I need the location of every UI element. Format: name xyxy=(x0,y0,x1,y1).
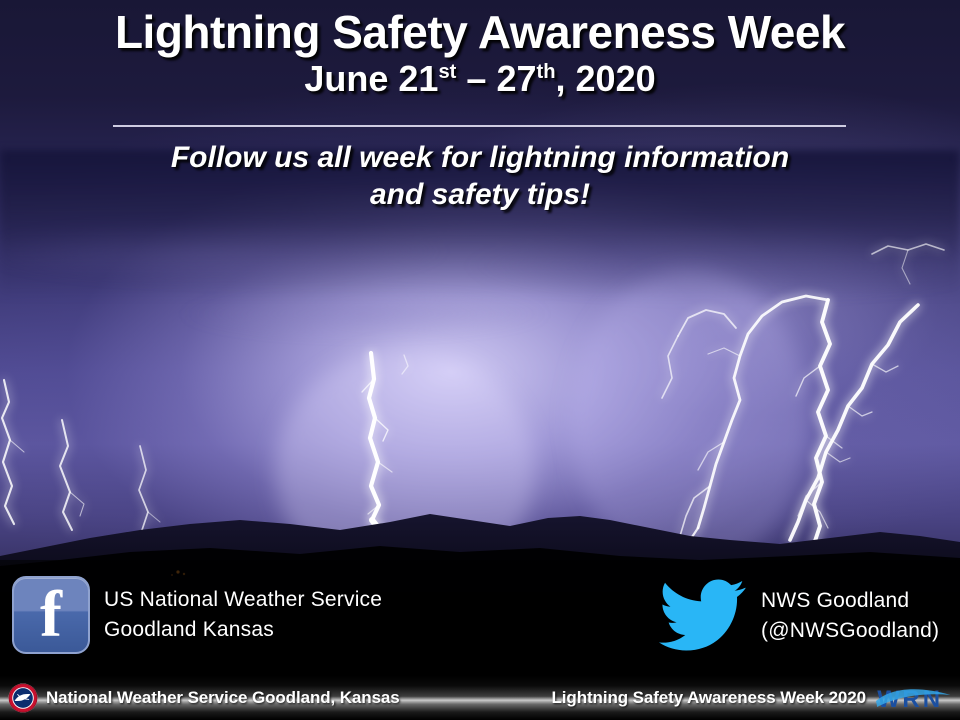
lightning-safety-poster: Lightning Safety Awareness Week June 21s… xyxy=(0,0,960,720)
facebook-icon[interactable]: f xyxy=(12,576,90,654)
twitter-handle-text: NWS Goodland (@NWSGoodland) xyxy=(761,586,939,646)
noaa-nws-seal-icon xyxy=(8,683,38,713)
facebook-f-glyph: f xyxy=(14,582,88,648)
twitter-handle-block[interactable]: NWS Goodland (@NWSGoodland) xyxy=(655,578,939,654)
facebook-handle-text: US National Weather Service Goodland Kan… xyxy=(104,585,382,645)
date-month: June xyxy=(304,58,388,99)
footer-left-group: National Weather Service Goodland, Kansa… xyxy=(8,676,400,720)
social-media-row: f US National Weather Service Goodland K… xyxy=(0,576,960,672)
facebook-line-1: US National Weather Service xyxy=(104,585,382,615)
page-title: Lightning Safety Awareness Week xyxy=(0,0,960,56)
header-divider xyxy=(113,125,846,127)
date-year: , 2020 xyxy=(556,58,656,99)
poster-header: Lightning Safety Awareness Week June 21s… xyxy=(0,0,960,98)
footer-left-text: National Weather Service Goodland, Kansa… xyxy=(46,688,400,708)
poster-footer: National Weather Service Goodland, Kansa… xyxy=(0,676,960,720)
date-start-suffix: st xyxy=(438,61,456,83)
poster-subtitle: Follow us all week for lightning informa… xyxy=(0,140,960,213)
date-range: June 21st – 27th, 2020 xyxy=(0,60,960,98)
facebook-handle-block[interactable]: f US National Weather Service Goodland K… xyxy=(12,576,382,654)
date-end-day: 27 xyxy=(496,58,536,99)
subtitle-line-2: and safety tips! xyxy=(0,177,960,214)
twitter-bird-icon[interactable] xyxy=(655,578,747,654)
date-dash: – xyxy=(466,58,486,99)
weather-ready-nation-logo: W R N xyxy=(876,683,954,713)
footer-right-text: Lightning Safety Awareness Week 2020 xyxy=(552,688,867,708)
date-start-day: 21 xyxy=(398,58,438,99)
twitter-line-1: NWS Goodland xyxy=(761,586,939,616)
facebook-line-2: Goodland Kansas xyxy=(104,615,382,645)
subtitle-line-1: Follow us all week for lightning informa… xyxy=(0,140,960,177)
footer-right-group: Lightning Safety Awareness Week 2020 W R… xyxy=(552,676,955,720)
twitter-line-2: (@NWSGoodland) xyxy=(761,616,939,646)
date-end-suffix: th xyxy=(537,61,556,83)
